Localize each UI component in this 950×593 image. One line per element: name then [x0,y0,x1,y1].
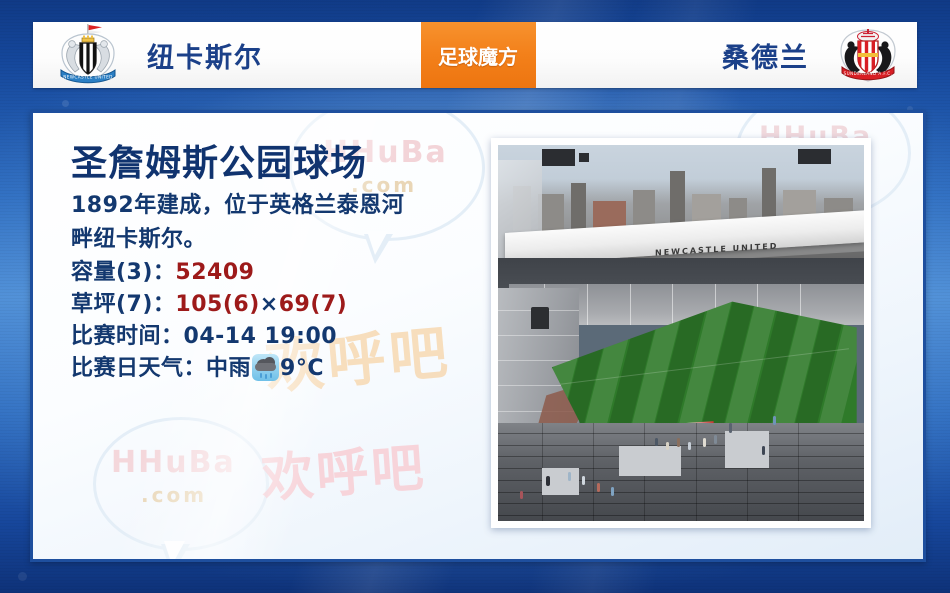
app-background: NEWCASTLE UNITED 纽卡斯尔 足球魔方 桑德兰 [0,0,950,593]
watermark-bubble-tail [161,544,190,562]
photo-spectator [773,416,776,425]
photo-spectator [762,446,765,455]
stadium-description-line2: 畔纽卡斯尔。 [71,224,481,255]
match-header-bar: NEWCASTLE UNITED 纽卡斯尔 足球魔方 桑德兰 [33,22,917,88]
st-james-park-photo-frame: NEWCASTLE UNITED [491,138,871,528]
photo-spectator [688,442,691,450]
photo-spectator [568,472,571,481]
pitch-row: 草坪(7)：105(6)×69(7) [71,289,481,321]
home-team-block: NEWCASTLE UNITED 纽卡斯尔 [33,23,421,87]
match-time-label: 比赛时间： [71,324,184,349]
watermark-script-text: 欢呼吧 [259,425,429,511]
photo-spectator [703,438,706,447]
match-time-value: 04-14 19:00 [184,324,338,349]
photo-scoreboard [798,149,831,164]
sunderland-afc-crest: SUNDERLAND A.F.C. [831,23,905,87]
pitch-times-symbol: × [260,292,279,317]
brand-badge[interactable]: 足球魔方 [421,22,536,88]
crest-banner-text: SUNDERLAND A.F.C. [844,71,893,76]
capacity-value: 52409 [175,260,254,285]
background-dot [18,572,27,581]
stadium-description-line1: 1892年建成，位于英格兰泰恩河 [71,190,481,221]
pitch-width-value: 69(7) [279,292,348,317]
photo-spectator [597,483,600,492]
weather-row: 比赛日天气：中雨 9°C [71,353,481,385]
photo-spectator [677,438,680,447]
watermark-bubble-domain: .com [141,483,207,507]
weather-condition: 中雨 [206,356,251,381]
pitch-label: 草坪(7)： [71,292,175,317]
photo-spectator [546,476,550,486]
weather-temperature: 9°C [280,356,324,381]
capacity-label: 容量(3)： [71,260,175,285]
home-team-name: 纽卡斯尔 [147,36,263,75]
watermark-bubble-text: HHuBa [111,445,236,480]
photo-spectator [714,435,717,444]
match-time-row: 比赛时间：04-14 19:00 [71,321,481,353]
photo-spectator [520,491,523,499]
st-james-park-photo: NEWCASTLE UNITED [498,145,864,521]
watermark-bubble [93,417,269,551]
photo-spectator [729,423,732,433]
moderate-rain-icon [252,354,279,381]
background-dot [62,100,69,107]
pitch-length-value: 105(6) [175,292,259,317]
photo-spectator [582,476,585,485]
stadium-info-panel: HHuBa .com HHuBa .com 欢呼吧 HHuBa .com HHu… [30,110,926,562]
stadium-title: 圣詹姆斯公园球场 [71,143,481,184]
photo-scoreboard [579,153,590,162]
away-team-name: 桑德兰 [722,36,809,75]
photo-spectator [666,442,669,450]
brand-badge-label: 足球魔方 [438,41,518,70]
photo-tunnel [531,307,549,330]
weather-label: 比赛日天气： [71,356,206,381]
away-team-block: 桑德兰 [536,23,918,87]
photo-scoreboard [542,149,575,166]
stadium-info-text: 圣詹姆斯公园球场 1892年建成，位于英格兰泰恩河 畔纽卡斯尔。 容量(3)：5… [71,143,481,385]
photo-concourse-wall [619,446,681,476]
newcastle-united-crest: NEWCASTLE UNITED [51,23,125,87]
crest-banner-text: NEWCASTLE UNITED [63,74,113,79]
capacity-row: 容量(3)：52409 [71,257,481,289]
